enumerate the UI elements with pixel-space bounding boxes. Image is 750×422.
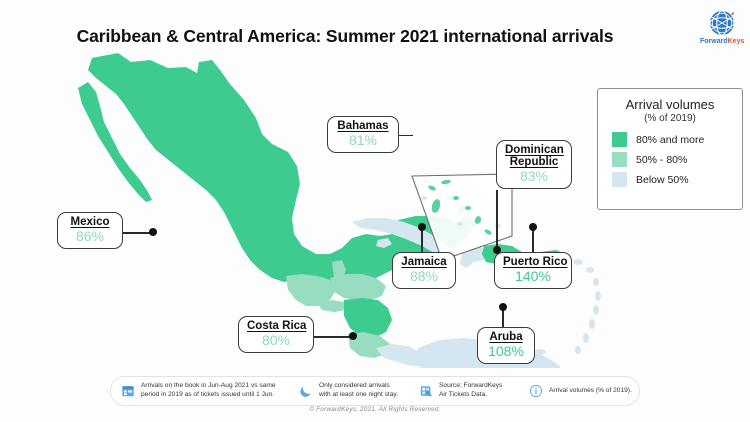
footnote-volumes-text: Arrival volumes (% of 2019).: [549, 387, 632, 396]
callout-bahamas-label: Bahamas: [336, 120, 390, 132]
legend-item-high[interactable]: 80% and more: [612, 132, 742, 147]
footnote-source-line1: Source: ForwardKeys: [439, 382, 502, 389]
callout-puerto-rico[interactable]: Puerto Rico 140%: [494, 252, 572, 289]
callout-bahamas[interactable]: Bahamas 81%: [327, 116, 399, 153]
legend-subtitle: (% of 2019): [598, 113, 742, 124]
callout-dr-value: 83%: [505, 169, 563, 184]
footnote-nightstay-text: Only considered arrivals with at least o…: [319, 382, 398, 399]
map-marker-costa-rica: [349, 332, 357, 340]
footnote-volumes-line1: Arrival volumes (% of 2019).: [549, 387, 632, 394]
country-honduras: [330, 274, 386, 300]
legend-label-low: Below 50%: [636, 174, 689, 186]
footnote-period-text: Arrivals on the book in Jun-Aug 2021 vs …: [141, 382, 276, 399]
callout-dr-label-line2: Republic: [505, 156, 563, 168]
map-marker-puerto-rico: [529, 223, 537, 231]
calendar-icon: [121, 384, 135, 398]
callout-dominican-republic[interactable]: Dominican Republic 83%: [496, 140, 572, 189]
logo-word-forward: Forward: [700, 38, 728, 45]
logo-word-keys: Keys: [728, 38, 745, 45]
legend-item-mid[interactable]: 50% - 80%: [612, 152, 742, 167]
legend-label-mid: 50% - 80%: [636, 154, 687, 166]
footnote-period: Arrivals on the book in Jun-Aug 2021 vs …: [111, 382, 289, 399]
leader-line-puerto-rico: [532, 228, 534, 252]
callout-jamaica-value: 88%: [401, 269, 447, 284]
database-icon: [419, 384, 433, 398]
leader-line-dominican-republic: [496, 190, 498, 250]
globe-icon: [707, 8, 737, 38]
legend-title: Arrival volumes: [598, 97, 742, 112]
callout-aruba[interactable]: Aruba 108%: [477, 327, 535, 364]
legend-item-low[interactable]: Below 50%: [612, 172, 742, 187]
map-marker-jamaica: [418, 223, 426, 231]
callout-jamaica[interactable]: Jamaica 88%: [392, 252, 456, 289]
legend-swatch-low: [612, 172, 627, 187]
page-title: Caribbean & Central America: Summer 2021…: [0, 26, 690, 47]
footnote-volumes: Arrival volumes (% of 2019).: [519, 384, 639, 398]
footnote-source-text: Source: ForwardKeys Air Tickets Data.: [439, 382, 502, 399]
map-marker-aruba: [499, 303, 507, 311]
footnote-period-line1: Arrivals on the book in Jun-Aug 2021 vs …: [141, 382, 276, 389]
legend-label-high: 80% and more: [636, 134, 704, 146]
footnote-nightstay-line1: Only considered arrivals: [319, 382, 390, 389]
leader-line-costa-rica: [314, 336, 352, 338]
leader-line-jamaica: [421, 228, 423, 252]
footnote-source-line2: Air Tickets Data.: [439, 391, 487, 398]
callout-mexico-value: 86%: [66, 229, 114, 244]
copyright-text: © ForwardKeys, 2021. All Rights Reserved…: [0, 406, 750, 413]
map-legend: Arrival volumes (% of 2019) 80% and more…: [597, 88, 743, 210]
map-marker-mexico: [149, 228, 157, 236]
callout-puerto-rico-value: 140%: [503, 269, 563, 284]
moon-icon: [299, 384, 313, 398]
forwardkeys-logo: ForwardKeys: [700, 8, 744, 50]
footnote-nightstay-line2: with at least one night stay.: [319, 391, 398, 398]
slide-canvas: Caribbean & Central America: Summer 2021…: [0, 0, 750, 422]
callout-mexico[interactable]: Mexico 86%: [57, 212, 123, 249]
callout-dr-label-line1: Dominican: [505, 144, 563, 156]
callout-aruba-label: Aruba: [486, 331, 526, 343]
legend-swatch-mid: [612, 152, 627, 167]
footnote-nightstay: Only considered arrivals with at least o…: [289, 382, 409, 399]
callout-mexico-label: Mexico: [66, 216, 114, 228]
leader-line-bahamas: [399, 135, 413, 136]
callout-jamaica-label: Jamaica: [401, 256, 447, 268]
footnote-source: Source: ForwardKeys Air Tickets Data.: [409, 382, 519, 399]
footnote-period-line2: period in 2019 as of tickets issued unti…: [141, 391, 274, 398]
callout-bahamas-value: 81%: [336, 133, 390, 148]
callout-costa-rica[interactable]: Costa Rica 80%: [238, 316, 314, 353]
logo-wordmark: ForwardKeys: [700, 38, 744, 46]
callout-aruba-value: 108%: [486, 344, 526, 359]
callout-puerto-rico-label: Puerto Rico: [503, 256, 563, 268]
legend-swatch-high: [612, 132, 627, 147]
footnotes-bar: Arrivals on the book in Jun-Aug 2021 vs …: [110, 376, 640, 406]
callout-costa-rica-value: 80%: [247, 333, 305, 348]
callout-costa-rica-label: Costa Rica: [247, 320, 305, 332]
info-icon: [529, 384, 543, 398]
